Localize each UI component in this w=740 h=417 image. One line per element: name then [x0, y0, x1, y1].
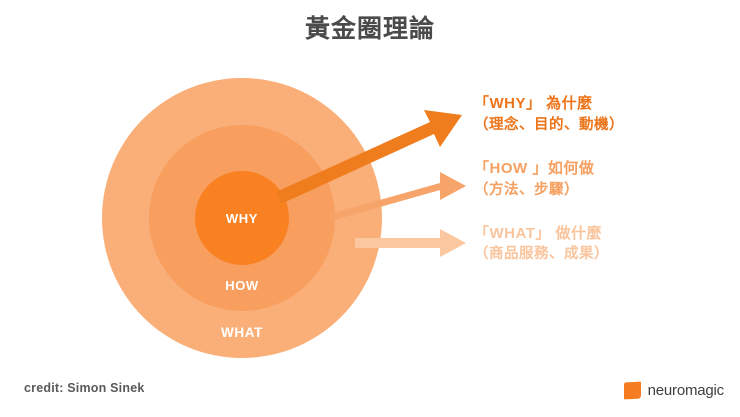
ring-label-how: HOW — [225, 278, 259, 293]
callout-how-title: 「HOW 」如何做 — [474, 158, 724, 180]
callout-why-detail: （理念、目的、動機） — [474, 115, 724, 136]
neuromagic-mark-icon — [624, 382, 641, 400]
ring-label-what: WHAT — [221, 325, 263, 340]
callout-what-detail: （商品服務、成果） — [474, 244, 724, 265]
callout-how[interactable]: 「HOW 」如何做 （方法、步驟） — [474, 158, 724, 201]
callout-what[interactable]: 「WHAT」 做什麼 （商品服務、成果） — [474, 223, 724, 266]
brand-name: neuromagic — [648, 382, 724, 399]
callout-why-title: 「WHY」 為什麼 — [474, 93, 724, 115]
brand-logo: neuromagic — [624, 382, 724, 399]
credit-text: credit: Simon Sinek — [24, 381, 145, 395]
callout-how-detail: （方法、步驟） — [474, 180, 724, 201]
slide-canvas: 黃金圈理論 WHY HOW WHAT 「WHY」 為什麼 （理念、目的、動機） … — [0, 0, 740, 417]
ring-label-why: WHY — [226, 211, 258, 226]
callout-list: 「WHY」 為什麼 （理念、目的、動機） 「HOW 」如何做 （方法、步驟） 「… — [474, 93, 724, 287]
callout-why[interactable]: 「WHY」 為什麼 （理念、目的、動機） — [474, 93, 724, 136]
callout-what-title: 「WHAT」 做什麼 — [474, 223, 724, 245]
